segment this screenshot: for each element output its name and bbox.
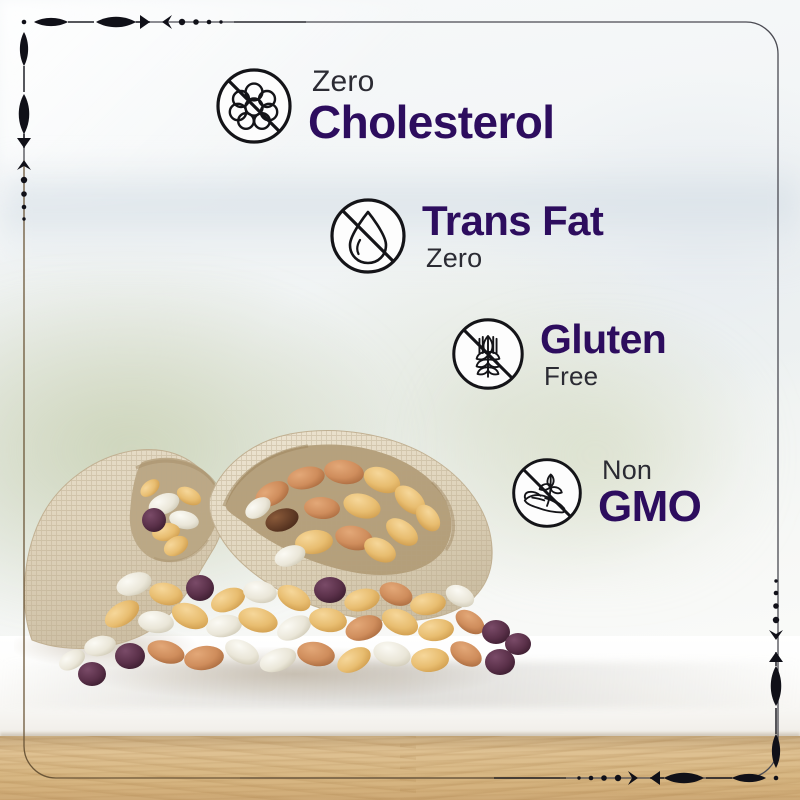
badge-non-gmo-line2: GMO [598, 485, 701, 529]
badge-non-gmo: Non GMO [510, 456, 701, 530]
badge-zero-cholesterol: Zero Cholesterol [214, 66, 554, 146]
badge-non-gmo-text: Non GMO [598, 457, 701, 529]
badge-gluten-free-text: Gluten Free [540, 319, 666, 389]
badge-trans-fat-zero: Trans Fat Zero [328, 196, 603, 276]
badge-gluten-free: Gluten Free [450, 316, 666, 392]
badge-zero-cholesterol-text: Zero Cholesterol [308, 67, 554, 145]
mixed-nuts-burlap-sacks-photo [14, 408, 534, 708]
badge-zero-cholesterol-line2: Cholesterol [308, 99, 554, 145]
wooden-table [0, 736, 800, 800]
no-cholesterol-icon [214, 66, 294, 146]
badge-trans-fat-zero-line1: Trans Fat [422, 200, 603, 242]
badge-trans-fat-zero-text: Trans Fat Zero [422, 200, 603, 272]
badge-non-gmo-line1: Non [602, 457, 701, 484]
badge-zero-cholesterol-line1: Zero [312, 67, 554, 97]
no-gmo-icon [510, 456, 584, 530]
badge-trans-fat-zero-line2: Zero [426, 245, 603, 272]
badge-gluten-free-line2: Free [544, 363, 666, 389]
no-trans-fat-icon [328, 196, 408, 276]
table-top-shadow [0, 736, 800, 752]
no-gluten-icon [450, 316, 526, 392]
product-benefits-banner: Zero Cholesterol Trans Fat Zero [0, 0, 800, 800]
badge-gluten-free-line1: Gluten [540, 319, 666, 360]
